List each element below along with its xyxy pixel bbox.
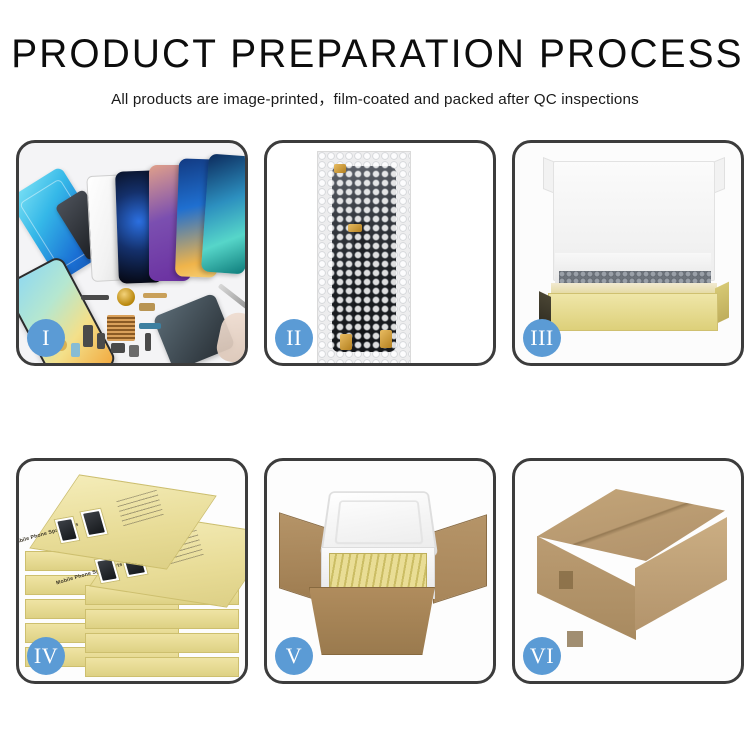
gold-connector-3 (340, 334, 352, 350)
page-header: PRODUCT PREPARATION PROCESS All products… (0, 0, 750, 109)
phone-display-4 (201, 154, 245, 275)
tweezer-tool (218, 283, 245, 312)
small-part-9 (129, 345, 139, 357)
box-front-yellow (548, 293, 718, 331)
process-steps-grid: I II III (16, 140, 744, 684)
step-panel-1[interactable]: I (16, 140, 248, 366)
carton-tape-lower (567, 631, 583, 647)
step-badge-3: III (523, 319, 561, 357)
small-part-5 (97, 333, 105, 349)
small-part-4 (83, 325, 93, 347)
step-panel-4[interactable]: Mobile Phone Spare Parts Mobile Phone Sp… (16, 458, 248, 684)
bubble-wrap-bag (317, 151, 411, 363)
wireless-coil-part (117, 288, 135, 306)
small-part-2 (143, 293, 167, 298)
carton-flap-right (433, 514, 487, 604)
carton-body (309, 587, 435, 655)
small-part-7 (145, 333, 151, 351)
chip-board-part (107, 315, 135, 341)
step-badge-6: VI (523, 637, 561, 675)
step-badge-1: I (27, 319, 65, 357)
step-badge-2: II (275, 319, 313, 357)
stacked-box-r3 (85, 609, 239, 629)
carton-tape-upper (559, 571, 573, 589)
gold-connector-4 (380, 330, 392, 348)
step-panel-3[interactable]: III (512, 140, 744, 366)
gold-connector-2 (348, 224, 362, 232)
bubble-texture (318, 152, 410, 363)
small-part-6 (139, 323, 161, 329)
page-subtitle: All products are image-printed，film-coat… (0, 87, 750, 109)
page-title: PRODUCT PREPARATION PROCESS (11, 34, 739, 74)
small-part-3 (139, 303, 155, 311)
step-panel-5[interactable]: V (264, 458, 496, 684)
step-badge-4: IV (27, 637, 65, 675)
stacked-box-r1 (85, 657, 239, 677)
small-part-10 (71, 343, 80, 357)
small-part-1 (81, 295, 109, 300)
step-panel-6[interactable]: VI (512, 458, 744, 684)
small-part-8 (111, 343, 125, 353)
stacked-box-r2 (85, 633, 239, 653)
step-panel-2[interactable]: II (264, 140, 496, 366)
step-badge-5: V (275, 637, 313, 675)
gold-connector-1 (334, 164, 346, 173)
